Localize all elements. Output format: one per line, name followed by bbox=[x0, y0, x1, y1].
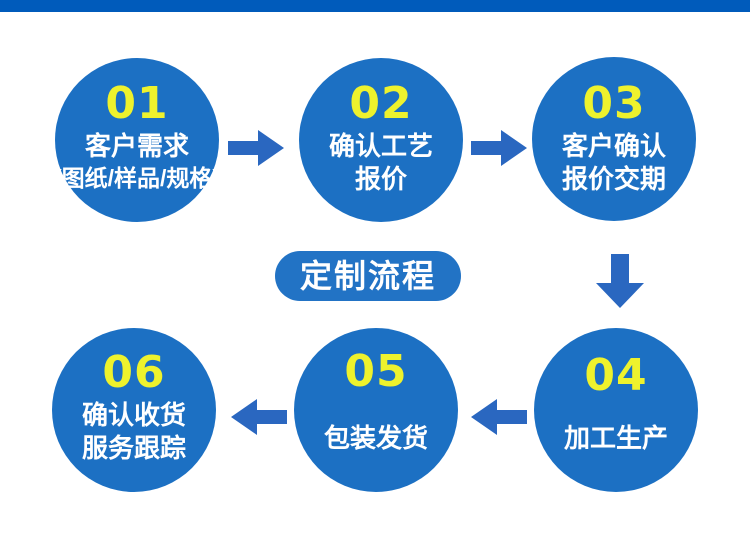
arrow-left-icon bbox=[231, 399, 287, 435]
center-badge-label: 定制流程 bbox=[300, 260, 436, 292]
arrow-down-icon bbox=[596, 254, 644, 308]
step-label-line: 客户需求 bbox=[85, 132, 189, 162]
step-labels-04: 加工生产 bbox=[564, 424, 668, 454]
step-number-01: 01 bbox=[105, 82, 168, 126]
step-label-line: (图纸/样品/规格) bbox=[54, 165, 220, 191]
step-number-04: 04 bbox=[584, 354, 647, 398]
step-circle-06[interactable]: 06 确认收货 服务跟踪 bbox=[52, 328, 216, 492]
step-label-line: 确认工艺 bbox=[329, 132, 433, 162]
step-label-line: 服务跟踪 bbox=[82, 434, 186, 464]
top-banner-strip bbox=[0, 0, 750, 12]
step-circle-02[interactable]: 02 确认工艺 报价 bbox=[299, 58, 463, 222]
step-labels-06: 确认收货 服务跟踪 bbox=[82, 401, 186, 464]
step-label-line: 加工生产 bbox=[564, 424, 668, 454]
step-circle-04[interactable]: 04 加工生产 bbox=[534, 328, 698, 492]
arrow-right-icon bbox=[228, 130, 284, 166]
step-label-line: 确认收货 bbox=[82, 401, 186, 431]
step-label-line: 报价交期 bbox=[562, 165, 666, 195]
step-number-05: 05 bbox=[344, 350, 407, 394]
step-circle-01[interactable]: 01 客户需求 (图纸/样品/规格) bbox=[55, 58, 219, 222]
step-labels-01: 客户需求 (图纸/样品/规格) bbox=[54, 132, 220, 191]
center-badge: 定制流程 bbox=[275, 251, 461, 301]
step-circle-03[interactable]: 03 客户确认 报价交期 bbox=[532, 57, 696, 221]
step-labels-02: 确认工艺 报价 bbox=[329, 132, 433, 195]
step-label-line: 客户确认 bbox=[562, 132, 666, 162]
step-labels-03: 客户确认 报价交期 bbox=[562, 132, 666, 195]
arrow-right-icon bbox=[471, 130, 527, 166]
step-label-line: 报价 bbox=[355, 165, 407, 195]
step-number-03: 03 bbox=[582, 82, 645, 126]
step-number-02: 02 bbox=[349, 82, 412, 126]
step-circle-05[interactable]: 05 包装发货 bbox=[294, 328, 458, 492]
step-label-line: 包装发货 bbox=[324, 424, 428, 454]
step-labels-05: 包装发货 bbox=[324, 424, 428, 454]
step-number-06: 06 bbox=[102, 351, 165, 395]
customization-flow-diagram: 01 客户需求 (图纸/样品/规格) 02 确认工艺 报价 03 客户确认 报价… bbox=[0, 0, 750, 550]
arrow-left-icon bbox=[471, 399, 527, 435]
